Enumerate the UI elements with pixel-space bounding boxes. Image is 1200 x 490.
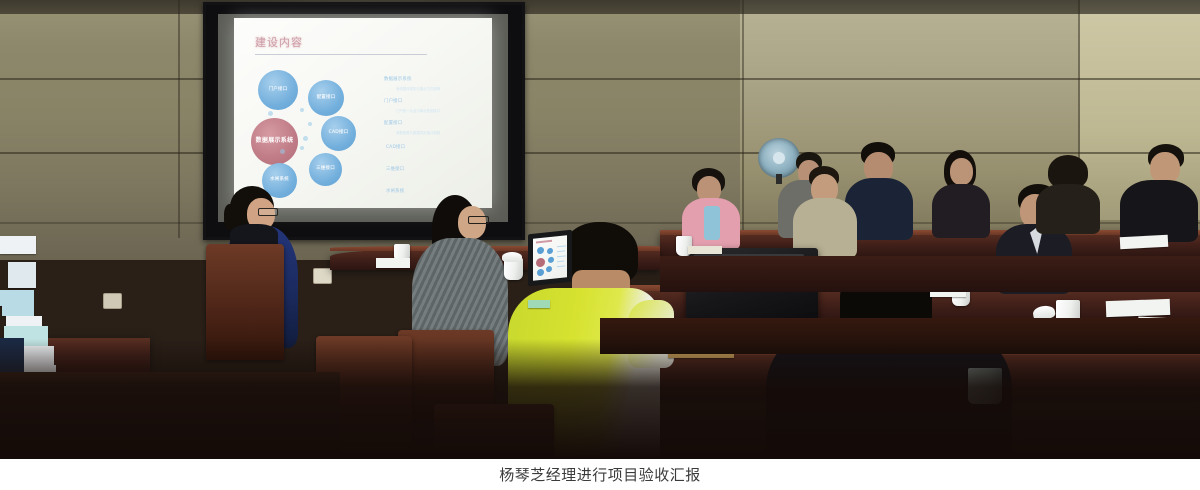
connector-dot [303, 136, 308, 141]
slide-list-item-1: 门户接口 [384, 98, 402, 104]
table-edge [660, 230, 1200, 235]
connector-dot [308, 122, 312, 126]
document-stack-item [6, 316, 42, 326]
laptop[interactable] [528, 232, 572, 294]
fan-mount [776, 174, 782, 184]
presentation-slide: 建设内容 门户接口 配置接口 数据展示系统 CAD接口 三维接口 水闸系统 [234, 18, 492, 208]
cup-lid [502, 252, 522, 262]
document-stack-item [2, 304, 34, 316]
slide-bubble-center: 数据展示系统 [251, 118, 298, 165]
document-stack-item [0, 236, 36, 254]
connector-dot [280, 149, 285, 154]
slide-bubble-3: 三维接口 [309, 153, 342, 186]
slide-list-item-5: 水闸系统 [386, 188, 404, 194]
slide-title: 建设内容 [255, 34, 303, 50]
paper-sheet [1106, 299, 1171, 317]
green-slip [528, 300, 550, 308]
laptop-screen [533, 235, 567, 281]
laptop-slide-title [536, 240, 552, 244]
caption-bar: 杨琴芝经理进行项目验收汇报 [0, 459, 1200, 490]
connector-dot [268, 111, 273, 116]
slide-bubble-1: 配置接口 [308, 80, 344, 116]
fan-hub [773, 152, 785, 164]
wall-seam-vertical [178, 0, 180, 238]
lanyard [704, 206, 720, 240]
foreground-shadow [0, 339, 1200, 459]
wall-seam-vertical [742, 0, 744, 232]
slide-list-item-4: 三维接口 [386, 166, 404, 172]
slide-list-item-2: 配置接口 [384, 120, 402, 126]
glasses-icon [468, 216, 489, 224]
power-outlet [313, 268, 332, 284]
slide-list-item-0: 数据展示系统 [384, 76, 412, 82]
slide-list-sub-2: 参数配置与数据同步接口说明 [396, 130, 440, 135]
slide-bubble-0: 门户接口 [258, 70, 298, 110]
paper-sheet [1120, 235, 1169, 249]
meeting-photo: 建设内容 门户接口 配置接口 数据展示系统 CAD接口 三维接口 水闸系统 [0, 0, 1200, 459]
paper-sheet [376, 258, 410, 268]
wall-seam [0, 78, 1200, 80]
slide-bubble-2: CAD接口 [321, 116, 356, 151]
connector-dot [300, 108, 304, 112]
slide-list-item-3: CAD接口 [386, 144, 405, 150]
paper-sheet [688, 246, 722, 254]
document-stack-item [8, 262, 36, 288]
ceiling-shadow [0, 0, 1200, 14]
slide-title-underline [255, 54, 427, 55]
table-skirt [660, 256, 1200, 292]
power-outlet [103, 293, 122, 309]
wall-seam [0, 152, 1200, 154]
glasses-icon [258, 208, 278, 216]
connector-dot [300, 146, 304, 150]
photo-caption: 杨琴芝经理进行项目验收汇报 [499, 464, 701, 485]
page-root: 建设内容 门户接口 配置接口 数据展示系统 CAD接口 三维接口 水闸系统 [0, 0, 1200, 490]
slide-list-sub-1: 门户统一认证与单点登录接口 [396, 108, 440, 113]
slide-list-sub-0: 系统整体架构与展示方式说明 [396, 86, 440, 91]
